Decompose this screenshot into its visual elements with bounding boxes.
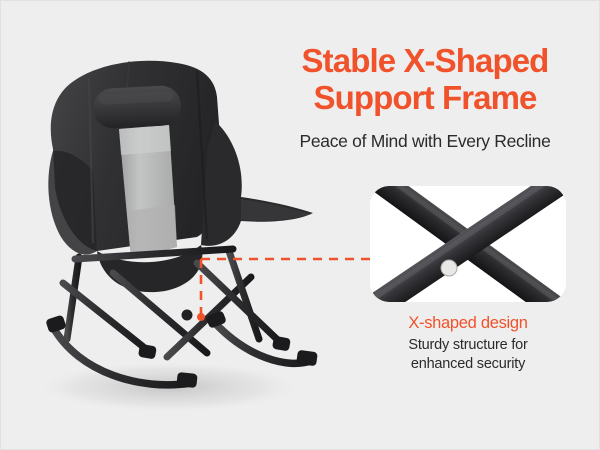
caption-body-line-1: Sturdy structure for xyxy=(408,337,527,353)
product-feature-banner: Stable X-Shaped Support Frame Peace of M… xyxy=(0,0,600,450)
headline-line-1: Stable X-Shaped xyxy=(302,42,549,79)
headrest-pillow xyxy=(92,85,182,130)
detail-inset-card xyxy=(370,186,566,302)
caption-block: X-shaped design Sturdy structure for enh… xyxy=(368,314,568,373)
caption-title: X-shaped design xyxy=(368,314,568,333)
caption-body-line-2: enhanced security xyxy=(411,356,525,372)
page-title: Stable X-Shaped Support Frame xyxy=(259,43,591,117)
caption-body: Sturdy structure for enhanced security xyxy=(368,336,568,373)
subheadline: Peace of Mind with Every Recline xyxy=(259,131,591,153)
x-frame-closeup xyxy=(370,186,566,302)
headline-line-2: Support Frame xyxy=(314,79,537,116)
frame-pivot-joint xyxy=(182,310,193,321)
copy-block: Stable X-Shaped Support Frame Peace of M… xyxy=(259,43,591,153)
